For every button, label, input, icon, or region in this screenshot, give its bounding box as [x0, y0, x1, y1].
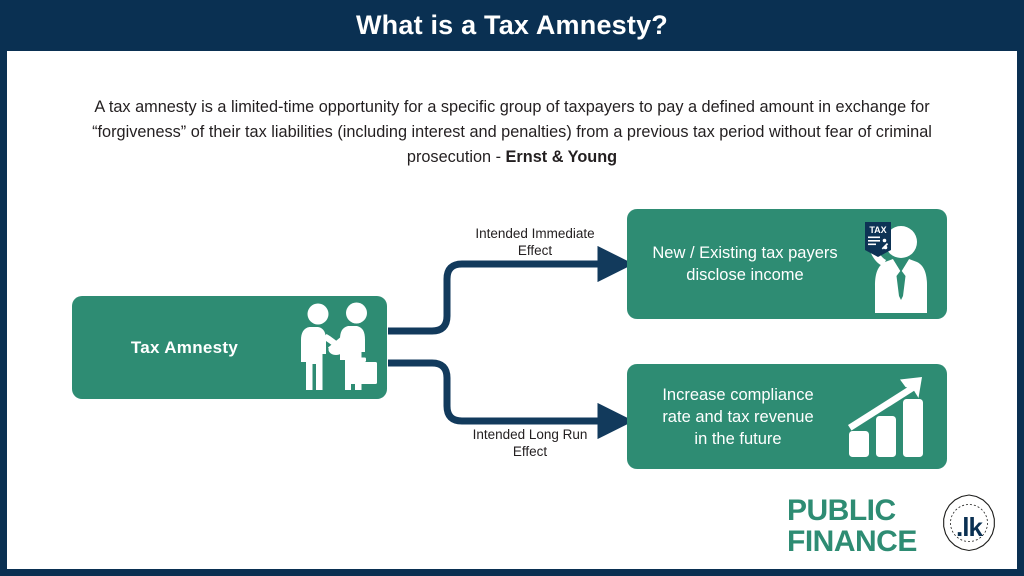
definition-source: Ernst & Young: [506, 148, 618, 166]
outcome-box-increase-compliance-line3: in the future: [637, 428, 839, 450]
outcome-box-disclose-income: New / Existing tax payers disclose incom…: [627, 209, 947, 319]
connector-label-longrun-line1: Intended Long Run: [445, 426, 615, 443]
slide-root: What is a Tax Amnesty? A tax amnesty is …: [0, 0, 1024, 576]
connector-label-immediate-line2: Effect: [459, 242, 611, 259]
tax-amnesty-box: Tax Amnesty: [72, 296, 387, 399]
connector-label-longrun: Intended Long Run Effect: [445, 426, 615, 460]
publicfinance-logo[interactable]: PUBLIC FINANCE .lk: [787, 488, 1002, 563]
outcome-box-disclose-income-line2: disclose income: [635, 264, 855, 286]
connector-label-immediate: Intended Immediate Effect: [459, 225, 611, 259]
growth-bar-chart-arrow-icon: [845, 364, 933, 469]
handshake-icon: [295, 296, 381, 399]
outcome-box-increase-compliance-line2: rate and tax revenue: [637, 406, 839, 428]
logo-wordmark: PUBLIC FINANCE: [787, 495, 917, 557]
connector-label-immediate-line1: Intended Immediate: [459, 225, 611, 242]
outcome-box-disclose-income-line1: New / Existing tax payers: [635, 242, 855, 264]
header-bar: What is a Tax Amnesty?: [0, 0, 1024, 51]
person-holding-tax-document-icon: TAX: [845, 209, 937, 319]
connector-longrun: [388, 363, 605, 421]
outcome-box-disclose-income-label: New / Existing tax payers disclose incom…: [627, 242, 855, 286]
outcome-box-increase-compliance: Increase compliance rate and tax revenue…: [627, 364, 947, 469]
logo-tld-text: .lk: [936, 494, 1002, 560]
connector-label-longrun-line2: Effect: [445, 443, 615, 460]
connector-immediate: [388, 264, 605, 331]
content-area: A tax amnesty is a limited-time opportun…: [7, 51, 1017, 569]
outcome-box-increase-compliance-label: Increase compliance rate and tax revenue…: [627, 384, 839, 450]
outcome-box-increase-compliance-line1: Increase compliance: [637, 384, 839, 406]
definition-paragraph: A tax amnesty is a limited-time opportun…: [62, 95, 962, 170]
page-title: What is a Tax Amnesty?: [356, 10, 668, 41]
tax-amnesty-box-label: Tax Amnesty: [72, 338, 297, 358]
tax-document-badge-text: TAX: [869, 225, 886, 235]
logo-word-line2: FINANCE: [787, 526, 917, 557]
logo-word-line1: PUBLIC: [787, 495, 917, 526]
